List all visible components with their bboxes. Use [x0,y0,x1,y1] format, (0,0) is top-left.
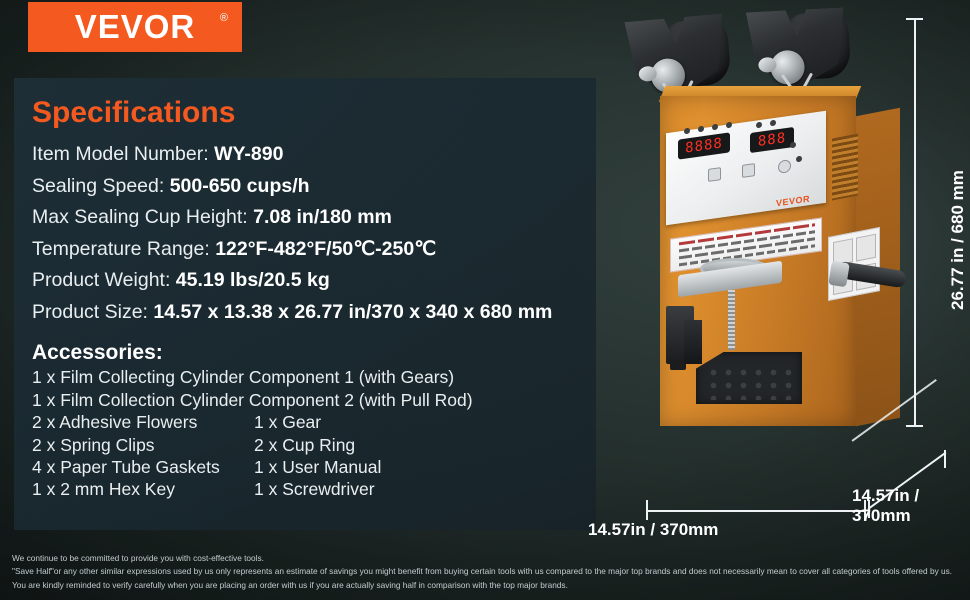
dimension-cap-left [646,500,648,520]
accessory-item: 1 x Screwdriver [254,478,474,500]
spec-row-temperature-range: Temperature Range: 122°F-482°F/50℃-250℃ [32,234,596,266]
accessories-column-left: 2 x Adhesive Flowers 2 x Spring Clips 4 … [32,411,254,501]
page-title: Specifications [32,96,596,130]
spec-value: 45.19 lbs/20.5 kg [176,269,330,291]
accessory-item: 1 x User Manual [254,456,474,478]
dimension-label-height: 26.77 in / 680 mm [948,170,968,310]
cup-holder-clamp-inner [684,320,702,364]
accessories-columns: 2 x Adhesive Flowers 2 x Spring Clips 4 … [32,411,596,501]
footer-line-1: We continue to be committed to provide y… [12,552,958,565]
spec-label: Max Sealing Cup Height: [32,206,253,228]
spec-label: Product Size: [32,301,153,323]
dimension-label-depth-line1: 14.57in / [852,486,919,506]
dimension-cap-depth-far [944,450,946,468]
accessory-item: 1 x 2 mm Hex Key [32,478,254,500]
spec-label: Product Weight: [32,269,176,291]
spec-value: 7.08 in/180 mm [253,206,392,228]
spec-label: Temperature Range: [32,238,215,260]
dimension-line-height [914,18,916,426]
drip-tray-holes [706,366,796,400]
accessory-item: 1 x Film Collection Cylinder Component 2… [32,389,596,411]
accessory-item: 2 x Cup Ring [254,434,474,456]
spec-value: 500-650 cups/h [170,175,310,197]
accessory-item: 1 x Gear [254,411,474,433]
panel-button-time[interactable] [742,163,755,178]
drip-tray [696,352,802,404]
dimension-cap-top [906,18,923,20]
threaded-post [728,290,735,350]
accessories-column-right: 1 x Gear 2 x Cup Ring 1 x User Manual 1 … [254,411,474,501]
dimension-label-depth-line2: 370mm [852,506,919,526]
dimension-cap-bottom [906,425,923,427]
cylinder-end-cap [828,261,850,288]
spec-value: WY-890 [214,143,283,165]
accessory-item: 4 x Paper Tube Gaskets [32,456,254,478]
dimension-line-width [646,510,866,512]
accessory-item: 2 x Adhesive Flowers [32,411,254,433]
vevor-logo: VEVOR ® [28,2,242,52]
accessory-item: 2 x Spring Clips [32,434,254,456]
footer-line-2: "Save Half"or any other similar expressi… [12,565,958,592]
specifications-panel: Specifications Item Model Number: WY-890… [14,78,596,530]
spec-value: 14.57 x 13.38 x 26.77 in/370 x 340 x 680… [153,301,552,323]
accessories-title: Accessories: [32,341,596,365]
dimension-label-depth: 14.57in / 370mm [852,486,919,526]
ventilation-grille [832,133,858,200]
accessory-item: 1 x Film Collecting Cylinder Component 1… [32,366,596,388]
spec-row-product-size: Product Size: 14.57 x 13.38 x 26.77 in/3… [32,297,596,329]
logo-wordmark: VEVOR [75,8,196,46]
spec-row-sealing-speed: Sealing Speed: 500-650 cups/h [32,171,596,203]
dimension-label-width: 14.57in / 370mm [588,520,718,540]
spec-value: 122°F-482°F/50℃-250℃ [215,238,436,260]
panel-button-temperature[interactable] [708,167,721,182]
spec-row-product-weight: Product Weight: 45.19 lbs/20.5 kg [32,265,596,297]
spec-label: Sealing Speed: [32,175,170,197]
spec-row-model: Item Model Number: WY-890 [32,139,596,171]
product-image: 8888 888 VEVOR [600,0,930,530]
label-pictogram [856,234,876,262]
spec-row-max-cup-height: Max Sealing Cup Height: 7.08 in/180 mm [32,202,596,234]
spec-label: Item Model Number: [32,143,214,165]
footer-disclaimer: We continue to be committed to provide y… [12,552,958,592]
registered-trademark-icon: ® [220,12,228,24]
